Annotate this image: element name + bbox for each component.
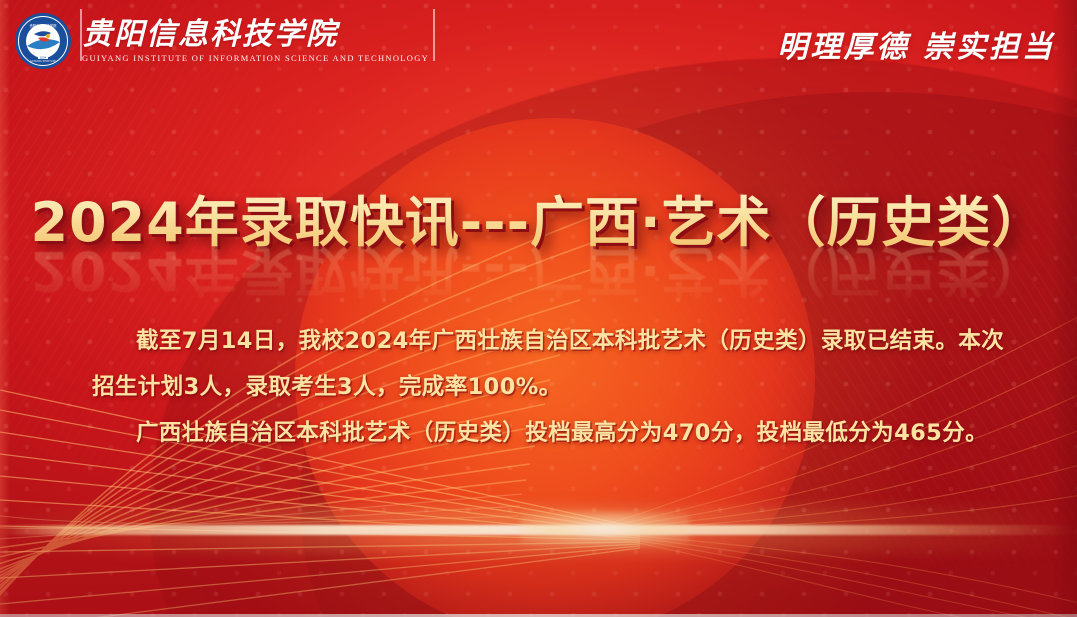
body-line-1: 截至7月14日，我校2024年广西壮族自治区本科批艺术（历史类）录取已结束。本次	[92, 318, 992, 364]
brand-right-rule	[433, 9, 435, 61]
background-bottom-shade	[0, 497, 1077, 617]
university-name-cn: 贵阳信息科技学院	[82, 19, 429, 51]
poster-title: 2024年录取快讯---广西·艺术（历史类）	[30, 178, 1046, 257]
poster-header: 贵阳信息科技学院 GUIYANG INSTITUTE 2004 贵阳信息科技学院…	[0, 0, 1077, 88]
university-name-en: GUIYANG INSTITUTE OF INFORMATION SCIENCE…	[82, 53, 429, 63]
body-line-2: 招生计划3人，录取考生3人，完成率100%。	[92, 364, 992, 410]
svg-text:2004: 2004	[40, 55, 47, 59]
body-line-3: 广西壮族自治区本科批艺术（历史类）投档最高分为470分，投档最低分为465分。	[92, 410, 992, 456]
svg-text:贵阳信息科技学院: 贵阳信息科技学院	[29, 23, 57, 28]
university-slogan: 明理厚德 崇实担当	[778, 22, 1055, 66]
svg-text:GUIYANG INSTITUTE: GUIYANG INSTITUTE	[30, 60, 56, 63]
announcement-body: 截至7月14日，我校2024年广西壮族自治区本科批艺术（历史类）录取已结束。本次…	[92, 318, 992, 456]
university-name-block: 贵阳信息科技学院 GUIYANG INSTITUTE OF INFORMATIO…	[82, 12, 429, 70]
poster-title-area: 2024年录取快讯---广西·艺术（历史类） 2024年录取快讯---广西·艺术…	[0, 178, 1077, 257]
university-seal-icon: 贵阳信息科技学院 GUIYANG INSTITUTE 2004	[14, 12, 72, 70]
admission-announcement-poster: 贵阳信息科技学院 GUIYANG INSTITUTE 2004 贵阳信息科技学院…	[0, 0, 1077, 617]
university-branding: 贵阳信息科技学院 GUIYANG INSTITUTE 2004 贵阳信息科技学院…	[14, 12, 429, 70]
